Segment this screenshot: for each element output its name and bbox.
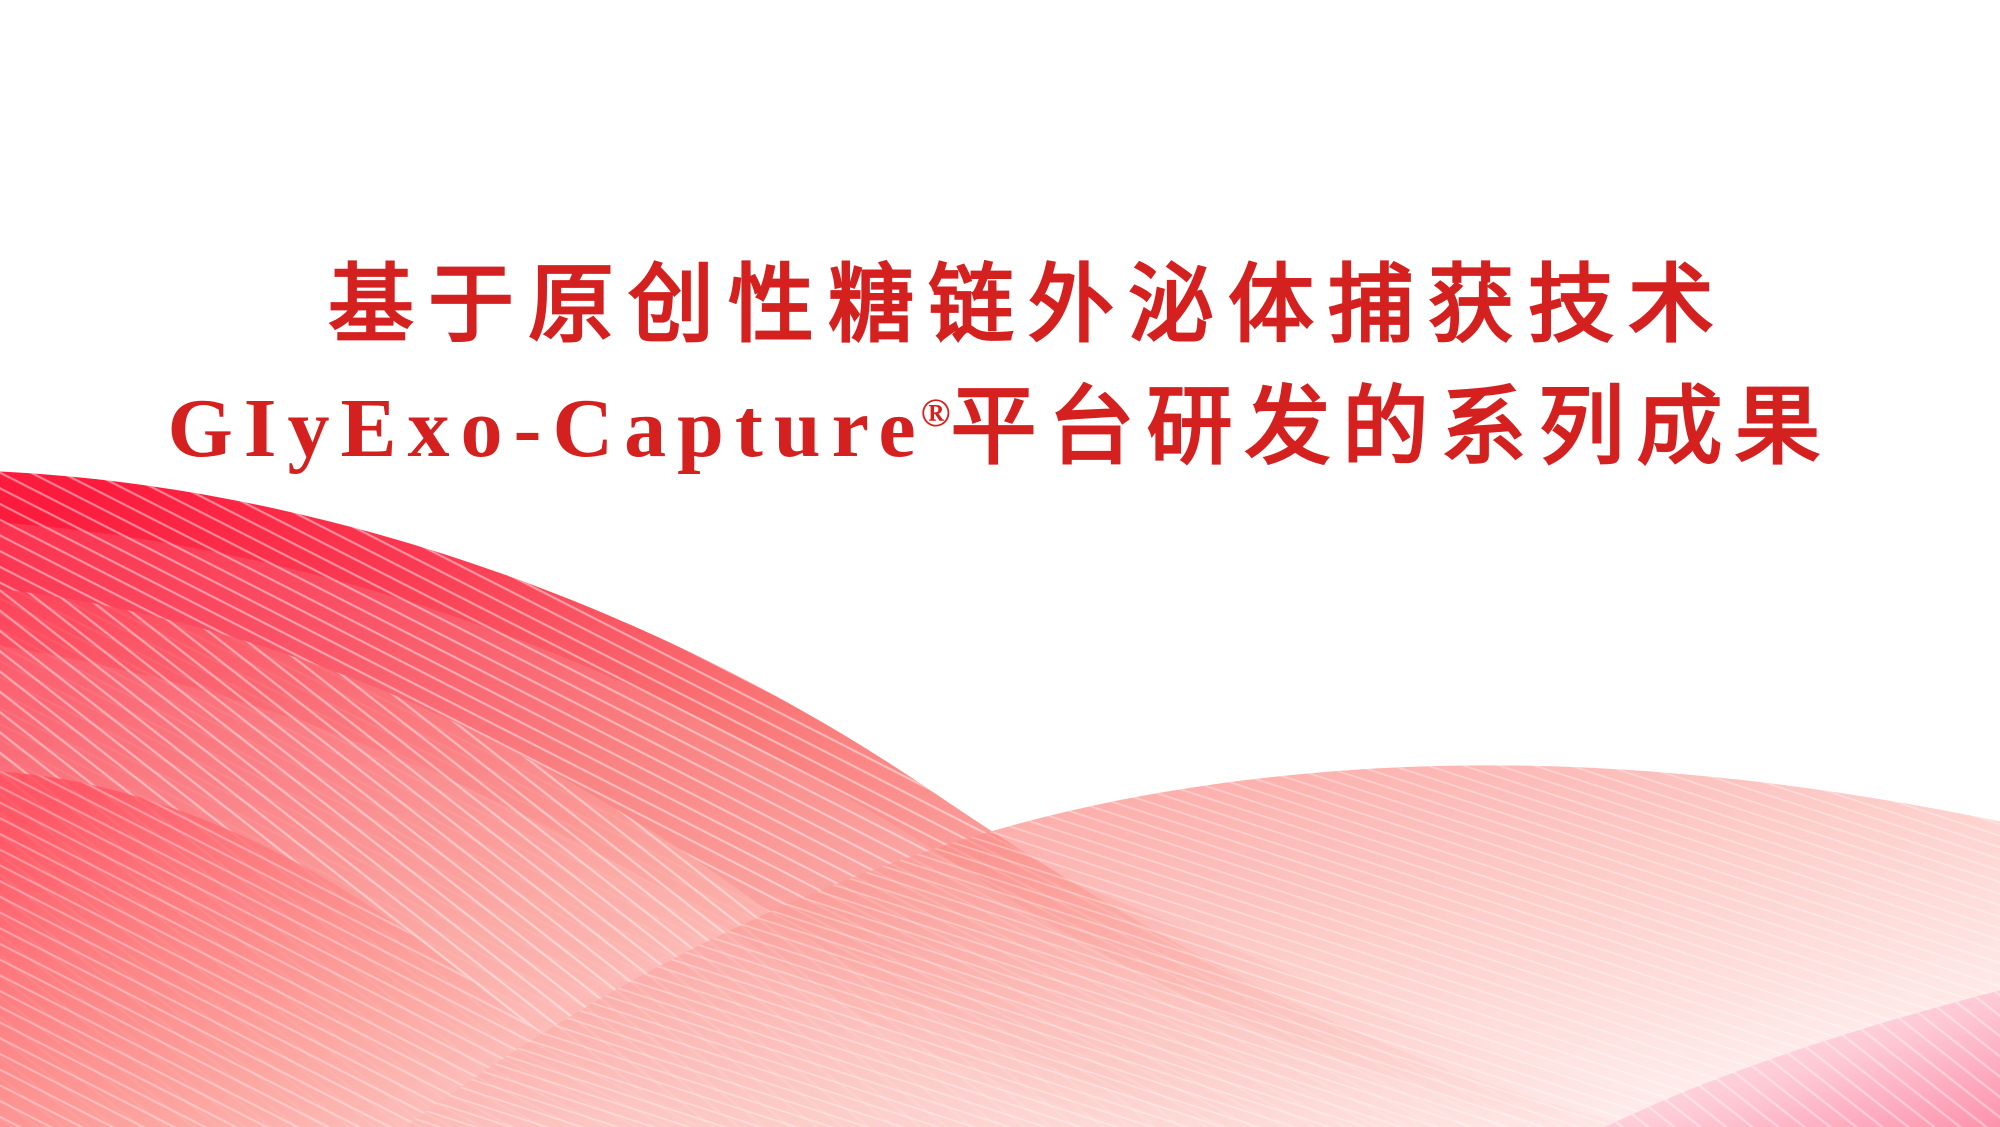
ribbon-secondary-arc <box>0 585 1420 1127</box>
title-suffix-cjk: 平台研发的系列成果 <box>951 379 1833 475</box>
ribbon-main-wave <box>0 470 2000 1127</box>
ribbon-bright-lobe <box>0 770 880 1127</box>
ribbon-upper-veil <box>0 520 1740 1127</box>
title-slide: 基于原创性糖链外泌体捕获技术 GIyExo-Capture®平台研发的系列成果 <box>0 0 2000 1127</box>
abstract-wave-decoration <box>0 0 2000 1127</box>
ribbon-right-sweep <box>330 765 2000 1127</box>
title-line-1: 基于原创性糖链外泌体捕获技术 <box>0 262 2000 348</box>
ribbon-pale-base <box>0 674 2000 1127</box>
registered-trademark-icon: ® <box>921 390 951 435</box>
title-line-2: GIyExo-Capture®平台研发的系列成果 <box>0 384 2000 471</box>
slide-title: 基于原创性糖链外泌体捕获技术 GIyExo-Capture®平台研发的系列成果 <box>0 262 2000 471</box>
ribbon-pink-corner <box>1500 980 2000 1127</box>
brand-name-latin: GIyExo-Capture <box>167 382 926 475</box>
